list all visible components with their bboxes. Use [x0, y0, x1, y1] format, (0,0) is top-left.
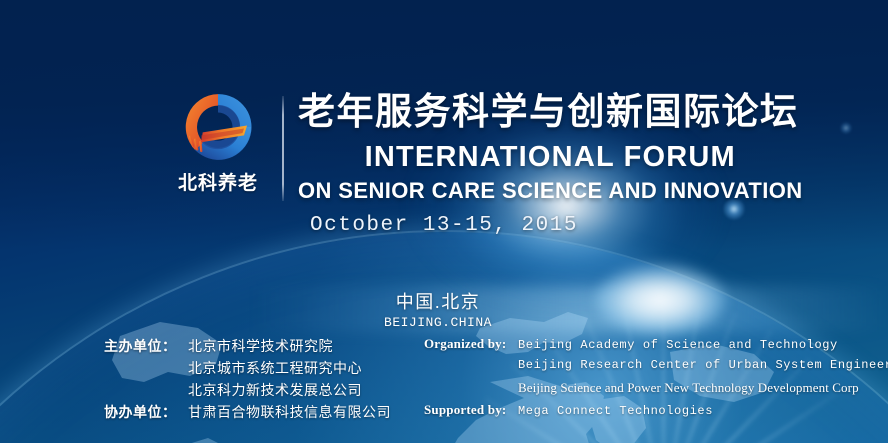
- credit-value: 北京科力新技术发展总公司: [188, 380, 362, 400]
- conference-banner: 北科养老 老年服务科学与创新国际论坛 INTERNATIONAL FORUM O…: [0, 0, 888, 443]
- banner-header: 北科养老 老年服务科学与创新国际论坛 INTERNATIONAL FORUM O…: [168, 88, 803, 204]
- credit-row: Beijing Science and Power New Technology…: [424, 380, 888, 402]
- credit-value: Beijing Science and Power New Technology…: [518, 380, 859, 396]
- credit-row: 北京城市系统工程研究中心: [104, 358, 391, 380]
- credit-label: Supported by:: [424, 402, 518, 418]
- credit-value: 甘肃百合物联科技信息有限公司: [188, 402, 391, 422]
- credit-label: Organized by:: [424, 336, 518, 352]
- e-circle-logo-icon: [172, 88, 264, 166]
- credit-row: Supported by: Mega Connect Technologies: [424, 402, 888, 424]
- credit-row: 协办单位： 甘肃百合物联科技信息有限公司: [104, 402, 391, 424]
- credit-value: Beijing Academy of Science and Technolog…: [518, 338, 838, 352]
- event-date: October 13-15, 2015: [0, 214, 888, 237]
- location-chinese: 中国.北京: [328, 288, 548, 314]
- credit-row: 北京科力新技术发展总公司: [104, 380, 391, 402]
- credit-row: 主办单位： 北京市科学技术研究院: [104, 336, 391, 358]
- header-divider: [282, 96, 284, 201]
- sunrise-core-glow: [595, 265, 725, 335]
- credit-value: Beijing Research Center of Urban System …: [518, 358, 888, 372]
- location-english: BEIJING.CHINA: [328, 315, 548, 330]
- credits-english: Organized by: Beijing Academy of Science…: [424, 336, 888, 424]
- event-location: 中国.北京 BEIJING.CHINA: [328, 288, 548, 330]
- logo-block: 北科养老: [168, 88, 268, 195]
- title-chinese: 老年服务科学与创新国际论坛: [298, 90, 803, 134]
- sparkle-dot-small-icon: [840, 122, 852, 134]
- credit-label: 主办单位：: [104, 336, 188, 356]
- credits-chinese: 主办单位： 北京市科学技术研究院 北京城市系统工程研究中心 北京科力新技术发展总…: [104, 336, 391, 424]
- title-block: 老年服务科学与创新国际论坛 INTERNATIONAL FORUM ON SEN…: [298, 88, 803, 204]
- credit-value: 北京城市系统工程研究中心: [188, 358, 362, 378]
- title-english-line1: INTERNATIONAL FORUM: [298, 141, 803, 174]
- credit-value: Mega Connect Technologies: [518, 404, 713, 418]
- credit-label: 协办单位：: [104, 402, 188, 422]
- title-english-line2: ON SENIOR CARE SCIENCE AND INNOVATION: [298, 178, 803, 204]
- credit-value: 北京市科学技术研究院: [188, 336, 333, 356]
- credit-row: Organized by: Beijing Academy of Science…: [424, 336, 888, 358]
- credit-row: Beijing Research Center of Urban System …: [424, 358, 888, 380]
- logo-org-name-cn: 北科养老: [178, 168, 258, 195]
